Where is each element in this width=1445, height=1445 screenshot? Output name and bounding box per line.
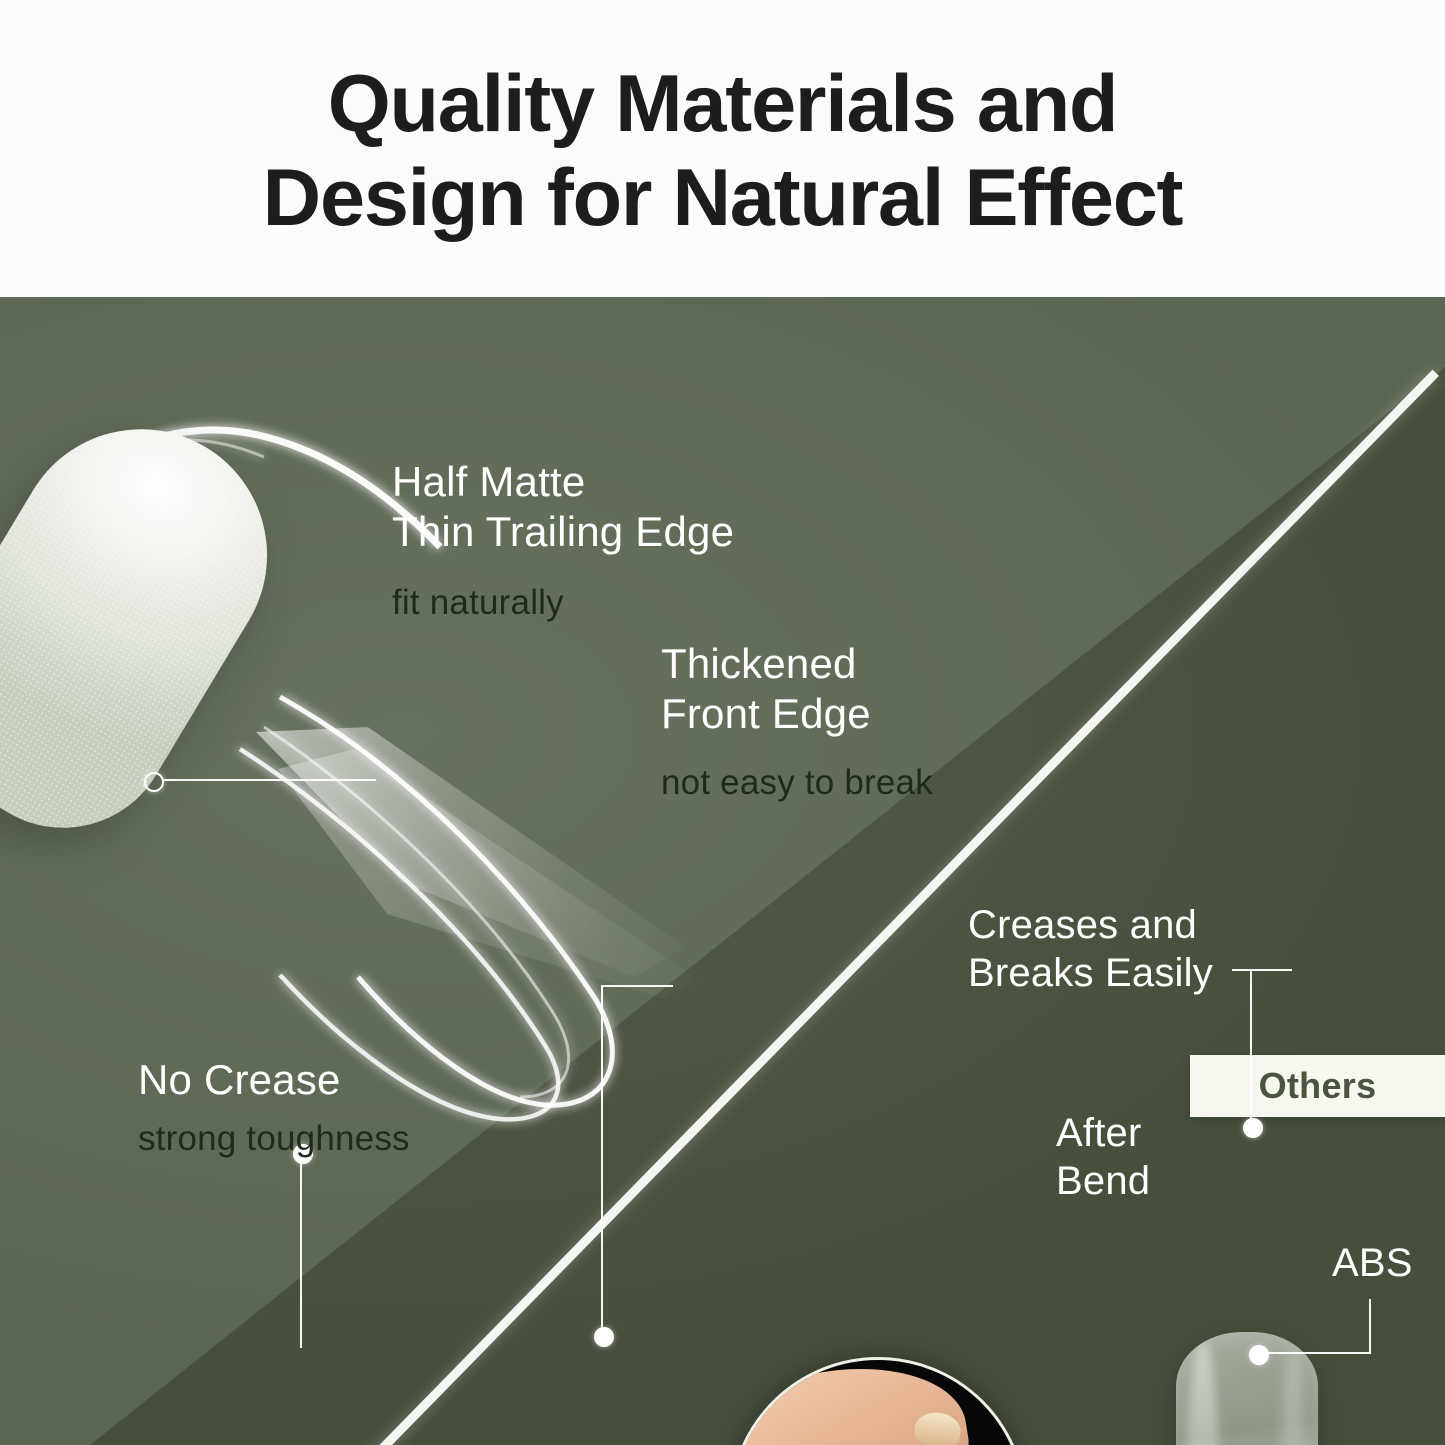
callout-marker-front-edge — [594, 1327, 614, 1347]
others-badge: Others — [1190, 1055, 1445, 1117]
header-band: Quality Materials and Design for Natural… — [0, 0, 1445, 297]
callout-sub-no-crease: strong toughness — [138, 1119, 410, 1159]
leader-line-front-edge-horizontal — [601, 985, 673, 987]
leader-line-half-matte — [164, 779, 376, 781]
leader-line-abs-horizontal — [1266, 1352, 1371, 1354]
others-headline: Creases and Breaks Easily — [968, 901, 1368, 997]
leader-line-front-edge-vertical — [601, 985, 603, 1330]
after-bend-label: After Bend — [1056, 1109, 1236, 1205]
comparison-stage: Half Matte Thin Trailing Edge fit natura… — [0, 297, 1445, 1445]
leader-line-no-crease — [300, 1162, 302, 1348]
leader-line-creases-vertical — [1250, 969, 1252, 1124]
callout-sub-half-matte: fit naturally — [392, 583, 564, 623]
infographic-page: Quality Materials and Design for Natural… — [0, 0, 1445, 1445]
abs-nail-photo — [1176, 1332, 1318, 1445]
page-title: Quality Materials and Design for Natural… — [73, 52, 1373, 246]
callout-marker-abs — [1249, 1345, 1269, 1365]
leader-line-creases-horizontal — [1232, 969, 1292, 971]
callout-sub-front-edge: not easy to break — [661, 763, 933, 803]
callout-title-no-crease: No Crease — [138, 1055, 558, 1105]
callout-title-half-matte: Half Matte Thin Trailing Edge — [392, 457, 862, 557]
callout-title-front-edge: Thickened Front Edge — [661, 639, 1081, 739]
abs-nail-highlight-left — [1186, 1340, 1220, 1445]
callout-marker-creases — [1243, 1118, 1263, 1138]
callout-marker-half-matte — [144, 772, 164, 792]
others-badge-label: Others — [1259, 1065, 1377, 1107]
abs-material-label: ABS — [1332, 1239, 1445, 1287]
leader-line-abs-vertical — [1369, 1299, 1371, 1353]
abs-nail-highlight-right — [1280, 1350, 1306, 1445]
